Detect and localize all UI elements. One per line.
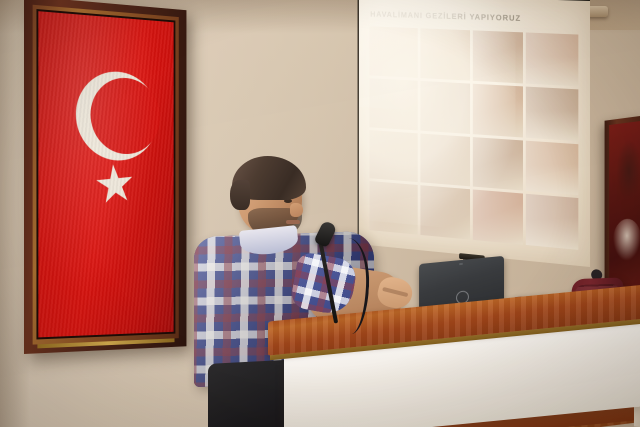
collage-photo — [420, 81, 469, 134]
collage-photo — [526, 140, 578, 195]
collage-photo — [472, 137, 523, 191]
flag-red-field — [38, 11, 173, 337]
collage-photo — [420, 133, 469, 186]
collage-photo — [369, 78, 417, 130]
collage-photo — [472, 83, 523, 137]
collage-photo — [472, 30, 523, 83]
collage-photo — [472, 190, 523, 245]
mouth — [286, 220, 300, 224]
collage-photo — [420, 28, 469, 80]
star-icon — [94, 163, 135, 207]
collage-photo — [526, 194, 578, 250]
crescent-icon — [76, 69, 158, 161]
crescent-cutout — [91, 76, 160, 155]
laptop-hinge-notch — [459, 263, 463, 265]
slide-title: HAVALİMANI GEZİLERİ YAPIYORUZ — [370, 10, 521, 23]
hair-side — [230, 180, 250, 210]
framed-turkish-flag — [24, 0, 186, 354]
collage-photo — [420, 185, 469, 239]
nose — [290, 203, 303, 217]
collage-photo — [526, 86, 578, 140]
conference-presentation-photo: HAVALİMANI GEZİLERİ YAPIYORUZ — [0, 0, 640, 427]
collage-photo — [369, 26, 417, 77]
collage-photo — [526, 32, 578, 86]
